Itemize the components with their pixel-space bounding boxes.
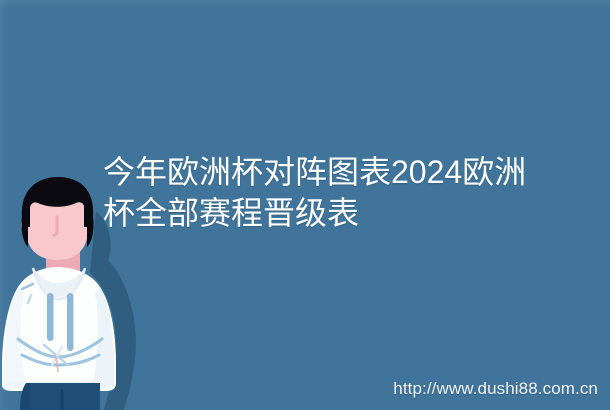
hoodie-group — [2, 267, 116, 391]
poster-canvas: 今年欧洲杯对阵图表2024欧洲杯全部赛程晋级表 http://www.dushi… — [0, 0, 610, 410]
watermark-url: http://www.dushi88.com.cn — [393, 379, 598, 399]
page-title: 今年欧洲杯对阵图表2024欧洲杯全部赛程晋级表 — [103, 152, 555, 234]
title-block: 今年欧洲杯对阵图表2024欧洲杯全部赛程晋级表 — [103, 152, 555, 234]
drawstring-right — [67, 293, 74, 351]
drawstring-left — [47, 293, 54, 341]
pants-group — [20, 383, 100, 410]
